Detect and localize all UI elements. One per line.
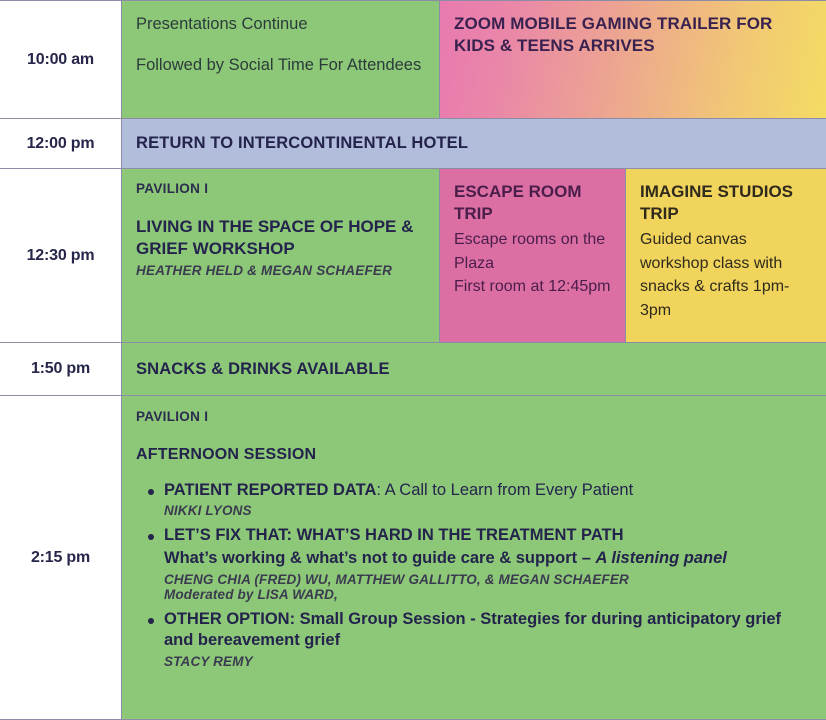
cell-snacks-drinks: SNACKS & DRINKS AVAILABLE (122, 343, 826, 395)
schedule-row-150pm: 1:50 pm SNACKS & DRINKS AVAILABLE (0, 342, 826, 396)
bullet-moderator: Moderated by LISA WARD, (164, 587, 812, 602)
schedule-row-1230pm: 12:30 pm PAVILION I LIVING IN THE SPACE … (0, 168, 826, 343)
schedule-table: 10:00 am Presentations Continue Followed… (0, 0, 826, 720)
schedule-row-1200pm: 12:00 pm RETURN TO INTERCONTINENTAL HOTE… (0, 118, 826, 169)
hope-grief-workshop-title: LIVING IN THE SPACE OF HOPE & GRIEF WORK… (136, 216, 425, 261)
time-label-1200pm: 12:00 pm (0, 119, 122, 168)
bullet-subtitle-italic: A listening panel (595, 549, 726, 567)
afternoon-session-heading: AFTERNOON SESSION (136, 446, 812, 464)
bullet-presenters: NIKKI LYONS (164, 503, 812, 518)
venue-pavilion-i-215: PAVILION I (136, 409, 812, 424)
cell-presentations-continue: Presentations Continue Followed by Socia… (122, 1, 440, 118)
presentations-continue-line2: Followed by Social Time For Attendees (136, 54, 425, 78)
time-label-215pm: 2:15 pm (0, 396, 122, 719)
imagine-studios-trip-body: Guided canvas workshop class with snacks… (640, 228, 812, 323)
list-item: PATIENT REPORTED DATA: A Call to Learn f… (164, 480, 812, 518)
cell-imagine-studios-trip: IMAGINE STUDIOS TRIP Guided canvas works… (626, 169, 826, 342)
schedule-row-1000am: 10:00 am Presentations Continue Followed… (0, 0, 826, 119)
snacks-drinks-label: SNACKS & DRINKS AVAILABLE (136, 360, 390, 379)
cell-escape-room-trip: ESCAPE ROOM TRIP Escape rooms on the Pla… (440, 169, 626, 342)
bullet-presenters: STACY REMY (164, 654, 812, 669)
cell-hope-grief-workshop: PAVILION I LIVING IN THE SPACE OF HOPE &… (122, 169, 440, 342)
cell-zoom-mobile-gaming-trailer: ZOOM MOBILE GAMING TRAILER FOR KIDS & TE… (440, 1, 826, 118)
afternoon-session-list: PATIENT REPORTED DATA: A Call to Learn f… (136, 480, 812, 669)
cell-return-to-hotel: RETURN TO INTERCONTINENTAL HOTEL (122, 119, 826, 168)
bullet-title-bold: PATIENT REPORTED DATA (164, 481, 376, 499)
imagine-studios-trip-title: IMAGINE STUDIOS TRIP (640, 181, 812, 226)
venue-pavilion-i-1230: PAVILION I (136, 181, 425, 196)
time-label-1000am: 10:00 am (0, 1, 122, 118)
bullet-title: OTHER OPTION: Small Group Session - Stra… (164, 609, 812, 652)
escape-room-trip-title: ESCAPE ROOM TRIP (454, 181, 611, 226)
bullet-presenters: CHENG CHIA (FRED) WU, MATTHEW GALLITTO, … (164, 572, 812, 587)
bullet-title-bold: LET’S FIX THAT: WHAT’S HARD IN THE TREAT… (164, 526, 624, 544)
time-label-150pm: 1:50 pm (0, 343, 122, 395)
schedule-row-215pm: 2:15 pm PAVILION I AFTERNOON SESSION PAT… (0, 395, 826, 720)
hope-grief-workshop-presenters: HEATHER HELD & MEGAN SCHAEFER (136, 263, 425, 278)
bullet-title: LET’S FIX THAT: WHAT’S HARD IN THE TREAT… (164, 525, 812, 546)
time-label-1230pm: 12:30 pm (0, 169, 122, 342)
list-item: LET’S FIX THAT: WHAT’S HARD IN THE TREAT… (164, 525, 812, 601)
bullet-title-rest: : A Call to Learn from Every Patient (376, 481, 633, 499)
presentations-continue-line1: Presentations Continue (136, 13, 425, 37)
bullet-title: PATIENT REPORTED DATA: A Call to Learn f… (164, 480, 812, 501)
bullet-subtitle: What’s working & what’s not to guide car… (164, 548, 812, 570)
list-item: OTHER OPTION: Small Group Session - Stra… (164, 609, 812, 669)
escape-room-trip-body: Escape rooms on the Plaza First room at … (454, 228, 611, 299)
bullet-title-bold: OTHER OPTION: (164, 610, 295, 628)
return-to-hotel-label: RETURN TO INTERCONTINENTAL HOTEL (136, 134, 468, 153)
bullet-subtitle-bold: What’s working & what’s not to guide car… (164, 549, 595, 567)
cell-afternoon-session: PAVILION I AFTERNOON SESSION PATIENT REP… (122, 396, 826, 719)
zoom-trailer-headline: ZOOM MOBILE GAMING TRAILER FOR KIDS & TE… (454, 13, 812, 57)
